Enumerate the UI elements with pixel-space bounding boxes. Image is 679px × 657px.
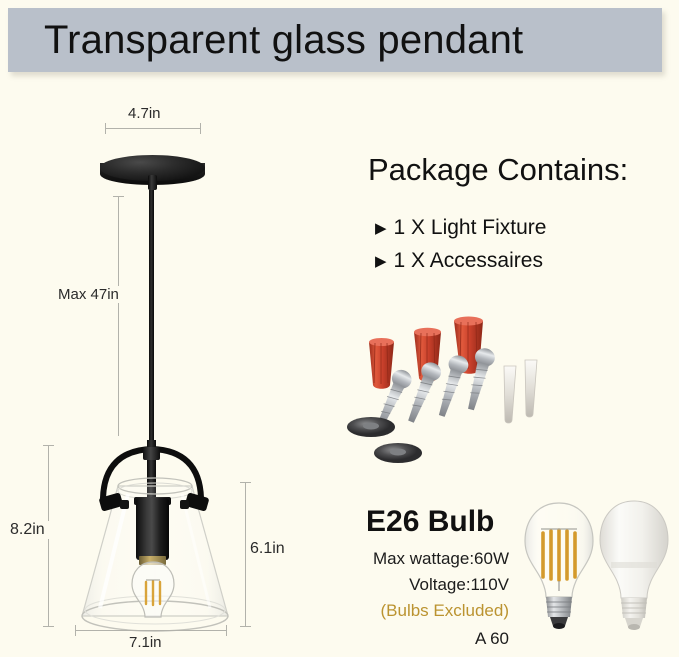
package-item-label: 1 X Accessaires [394,249,543,273]
bulb-voltage: Voltage:110V [409,575,509,595]
bulb-section-title: E26 Bulb [366,505,494,539]
dim-label-canopy-width: 4.7in [124,105,165,122]
dim-tick-height-bottom [43,626,54,627]
package-item-label: 1 X Light Fixture [394,216,547,240]
infographic-root: Transparent glass pendant 4.7in Max 47in [0,0,679,657]
dim-label-shade-width: 7.1in [125,634,166,651]
triangle-bullet-icon: ▶ [375,221,387,236]
washer [374,443,422,463]
dim-label-shade-height: 8.2in [6,521,49,539]
list-item: ▶ 1 X Accessaires [375,249,546,273]
bulb-photos [521,493,673,653]
page-title: Transparent glass pendant [8,20,523,60]
dim-tick-glass-bottom [240,626,251,627]
dim-tick-canopy-right [200,123,201,134]
screw [402,359,444,425]
title-banner: Transparent glass pendant [8,8,662,72]
dim-tick-canopy-left [105,123,106,134]
dim-label-cord-length: Max 47in [54,286,123,303]
installed-bulb [128,560,178,622]
list-item: ▶ 1 X Light Fixture [375,216,546,240]
shade-clamp-nub-left [120,500,129,509]
dim-line-shade-width [75,630,226,631]
bulbs-excluded-note: (Bulbs Excluded) [380,601,509,621]
dim-tick-width-right [226,625,227,636]
lamp-socket [136,498,169,560]
washer [347,417,395,437]
hanging-cord [149,190,154,440]
wall-anchor [525,360,537,417]
package-contains-heading: Package Contains: [368,152,628,188]
shade-clamp-nub-right [180,500,189,509]
canopy-nipple [148,175,157,190]
wire-nut [369,338,394,389]
dim-label-glass-height: 6.1in [246,540,289,558]
clear-filament-bulb [525,503,593,629]
wall-anchor [504,366,516,423]
triangle-bullet-icon: ▶ [375,254,387,269]
package-contents-list: ▶ 1 X Light Fixture ▶ 1 X Accessaires [375,216,546,282]
dim-line-canopy-width [105,128,200,129]
hardware-accessories-photo [336,312,556,477]
bulb-max-wattage: Max wattage:60W [373,549,509,569]
stem-collar [143,447,160,460]
frosted-bulb [600,501,668,630]
dim-line-cord-length [118,196,119,436]
bulb-shape-code: A 60 [475,629,509,649]
